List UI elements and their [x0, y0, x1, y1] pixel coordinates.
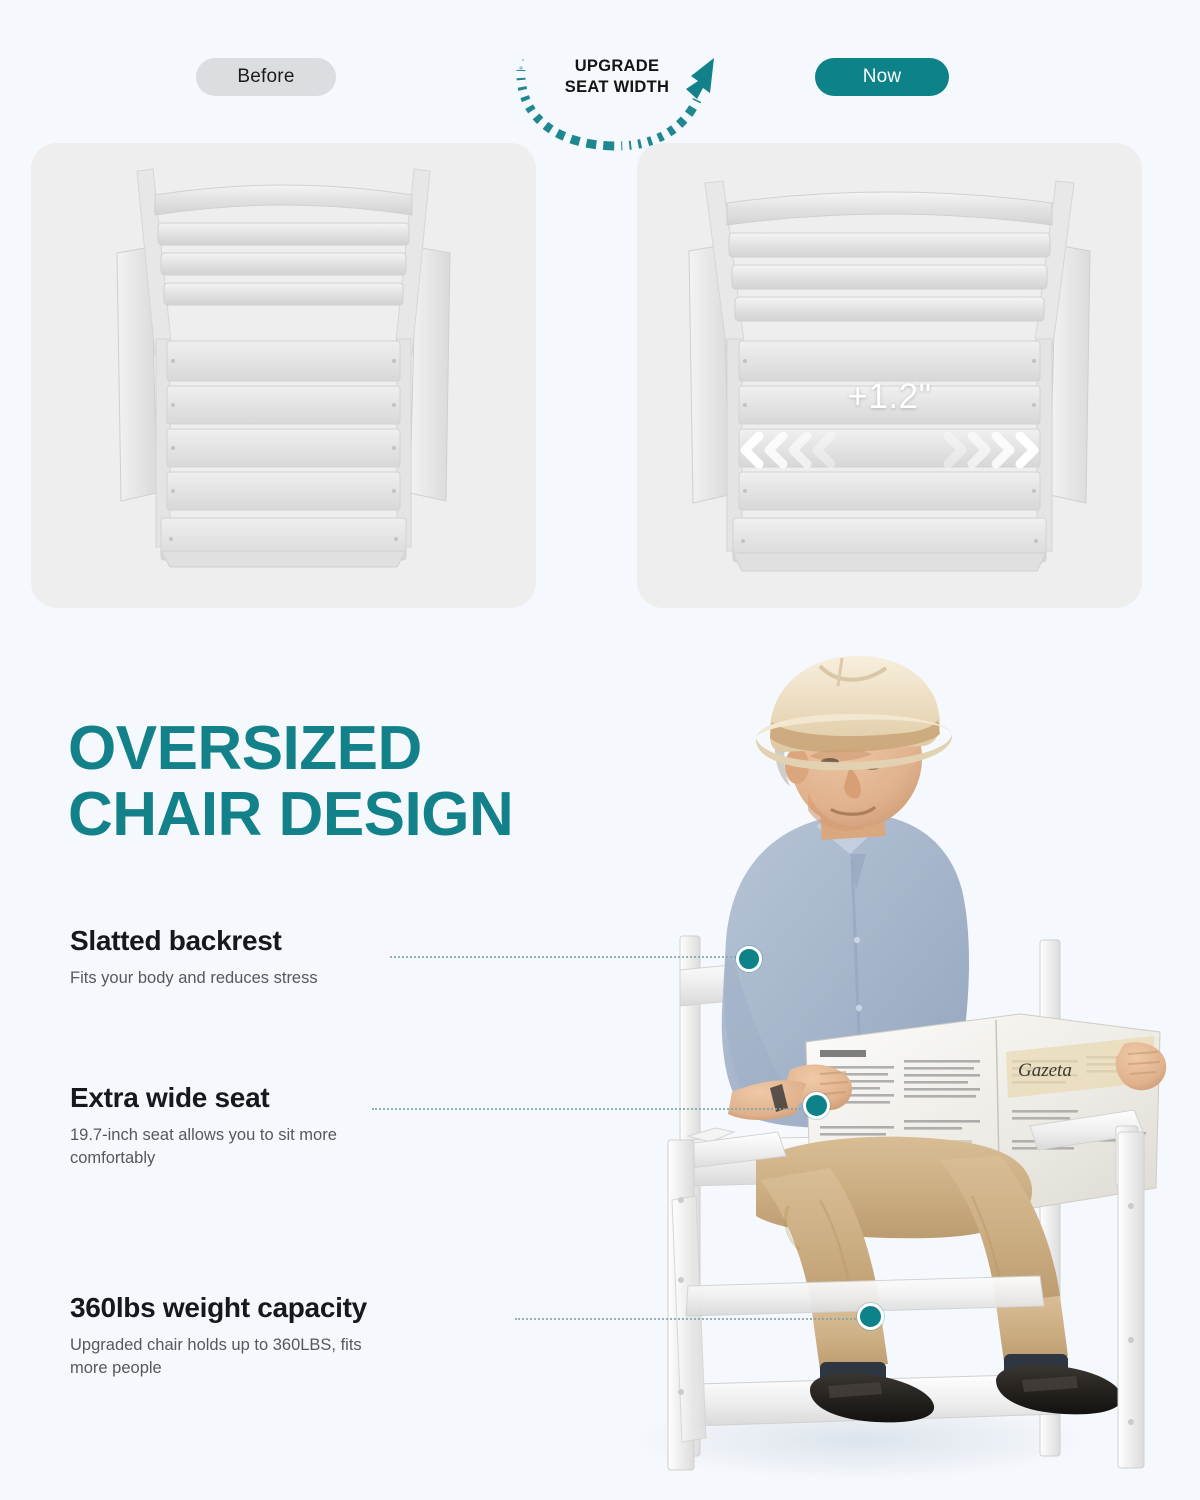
page-title-line-1: OVERSIZED [68, 714, 422, 783]
feature-extra-wide-seat: Extra wide seat 19.7-inch seat allows yo… [70, 1082, 540, 1171]
feature-title: 360lbs weight capacity [70, 1292, 540, 1324]
comparison-badge-row: Before UPGRADE SEAT WIDTH Now [0, 56, 1200, 102]
now-chair-panel: +1.2" [637, 143, 1142, 608]
product-photo: Gazeta [520, 640, 1200, 1500]
feature-description: Upgraded chair holds up to 360LBS, fits … [70, 1334, 370, 1381]
hotspot-dot-weight-capacity [857, 1303, 884, 1330]
man-sitting-on-chair-image: Gazeta [520, 640, 1200, 1500]
connector-line-weight-capacity [515, 1318, 863, 1320]
chair-top-view-now-image [637, 143, 1142, 608]
upgrade-line-2: SEAT WIDTH [565, 78, 669, 96]
seat-width-measurement-label: +1.2" [637, 377, 1142, 417]
feature-title: Slatted backrest [70, 925, 540, 957]
svg-text:Gazeta: Gazeta [1018, 1060, 1072, 1081]
feature-slatted-backrest: Slatted backrest Fits your body and redu… [70, 925, 540, 990]
upgrade-callout: UPGRADE SEAT WIDTH [505, 42, 720, 152]
before-badge: Before [196, 58, 336, 96]
before-chair-panel [31, 143, 536, 608]
hotspot-dot-slatted-backrest [736, 946, 762, 972]
feature-title: Extra wide seat [70, 1082, 540, 1114]
upgrade-callout-text: UPGRADE SEAT WIDTH [547, 56, 687, 98]
chair-top-view-before-image [31, 143, 536, 608]
upgrade-line-1: UPGRADE [575, 57, 660, 75]
feature-description: Fits your body and reduces stress [70, 967, 370, 990]
now-badge: Now [815, 58, 949, 96]
hotspot-dot-extra-wide-seat [803, 1092, 830, 1119]
feature-description: 19.7-inch seat allows you to sit more co… [70, 1124, 370, 1171]
feature-weight-capacity: 360lbs weight capacity Upgraded chair ho… [70, 1292, 540, 1381]
